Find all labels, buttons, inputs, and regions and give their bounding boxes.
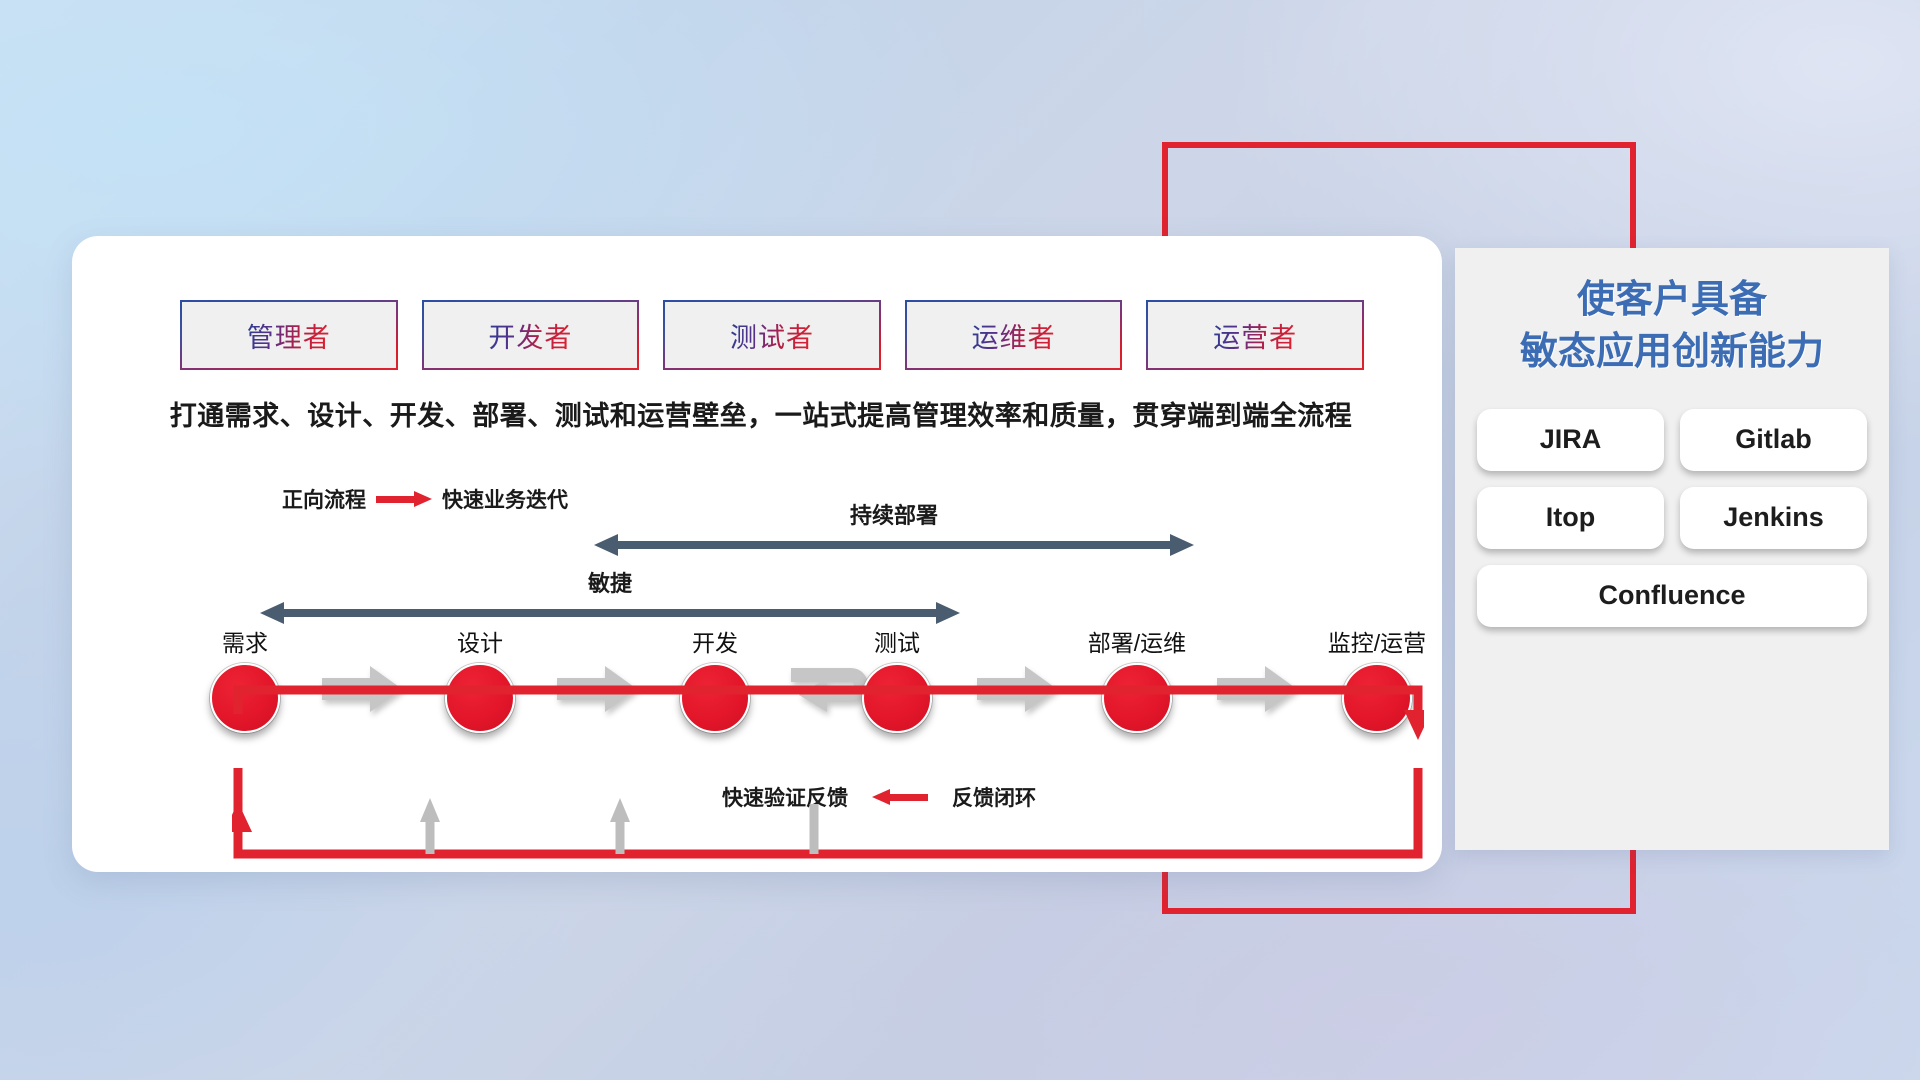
span-continuous-deploy: 持续部署	[594, 498, 1194, 556]
tool-chip-gitlab[interactable]: Gitlab	[1680, 409, 1867, 471]
arrow-shaft	[376, 496, 416, 503]
pipeline-node-test[interactable]: 测试	[832, 624, 962, 733]
legend-forward-flow: 正向流程 快速业务迭代	[282, 484, 568, 514]
legend-feedback-loop: 快速验证反馈 反馈闭环	[722, 782, 1036, 812]
chevron-arrow-right-icon	[557, 666, 637, 712]
pipeline-node-monitor-operate[interactable]: 监控/运营	[1312, 624, 1442, 733]
role-box-0[interactable]: 管理者	[182, 302, 396, 368]
role-box-3[interactable]: 运维者	[907, 302, 1121, 368]
pipeline-node-label: 开发	[650, 624, 780, 658]
legend-feedback-left-label: 快速验证反馈	[722, 782, 848, 812]
span-agile-label: 敏捷	[260, 566, 960, 598]
tool-chip-list: JIRA Gitlab Itop Jenkins Confluence	[1477, 409, 1867, 627]
role-box-1[interactable]: 开发者	[424, 302, 638, 368]
pipeline-node-label: 部署/运维	[1072, 624, 1202, 658]
outcome-title-line1: 使客户具备	[1455, 274, 1889, 326]
tool-chip-jenkins[interactable]: Jenkins	[1680, 487, 1867, 549]
role-box-2[interactable]: 测试者	[665, 302, 879, 368]
pipeline-row: 需求 设计 开发 测试	[132, 604, 1402, 754]
legend-forward-right-label: 快速业务迭代	[442, 484, 568, 514]
outcome-panel-title: 使客户具备 敏态应用创新能力	[1455, 248, 1889, 379]
role-label: 运营者	[1213, 316, 1297, 355]
pipeline-node-label: 设计	[415, 624, 545, 658]
pipeline-node-develop[interactable]: 开发	[650, 624, 780, 733]
tool-chip-confluence[interactable]: Confluence	[1477, 565, 1867, 627]
legend-feedback-right-label: 反馈闭环	[952, 782, 1036, 812]
double-arrow-slate-icon	[594, 534, 1194, 556]
tool-chip-jira[interactable]: JIRA	[1477, 409, 1664, 471]
arrow-shaft	[888, 794, 928, 801]
arrow-head	[414, 491, 432, 507]
loop-up-arrowhead	[232, 802, 252, 832]
pipeline-node-dot	[445, 663, 515, 733]
pipeline-node-dot	[1102, 663, 1172, 733]
role-label: 运维者	[972, 316, 1056, 355]
chevron-arrow-right-icon	[1217, 666, 1297, 712]
role-label: 开发者	[488, 316, 572, 355]
pipeline-node-dot	[862, 663, 932, 733]
description-text: 打通需求、设计、开发、部署、测试和运营壁垒，一站式提高管理效率和质量，贯穿端到端…	[116, 394, 1406, 433]
role-box-4[interactable]: 运营者	[1148, 302, 1362, 368]
chevron-arrow-right-icon	[322, 666, 402, 712]
tick-design-arrowhead	[420, 798, 440, 822]
arrow-left-red-icon	[872, 789, 928, 805]
arrow-shaft	[616, 541, 1172, 549]
pipeline-node-design[interactable]: 设计	[415, 624, 545, 733]
arrow-head	[872, 789, 890, 805]
outcome-panel: 使客户具备 敏态应用创新能力 JIRA Gitlab Itop Jenkins …	[1455, 248, 1889, 850]
tool-chip-itop[interactable]: Itop	[1477, 487, 1664, 549]
pipeline-node-deploy-ops[interactable]: 部署/运维	[1072, 624, 1202, 733]
pipeline-node-label: 需求	[180, 624, 310, 658]
outcome-title-line2: 敏态应用创新能力	[1455, 326, 1889, 378]
span-continuous-deploy-label: 持续部署	[594, 498, 1194, 530]
pipeline-node-label: 监控/运营	[1312, 624, 1442, 658]
tick-develop-arrowhead	[610, 798, 630, 822]
role-label: 测试者	[730, 316, 814, 355]
role-label: 管理者	[247, 316, 331, 355]
chevron-arrow-right-icon	[977, 666, 1057, 712]
legend-forward-left-label: 正向流程	[282, 484, 366, 514]
main-diagram-card: 管理者 开发者 测试者 运维者 运营者 打通需求、设计、开发、部署、测试和运营壁…	[72, 236, 1442, 872]
pipeline-node-dot	[1342, 663, 1412, 733]
arrow-head-right	[1170, 534, 1194, 556]
pipeline-node-dot	[680, 663, 750, 733]
role-box-row: 管理者 开发者 测试者 运维者 运营者	[182, 302, 1362, 368]
arrow-right-red-icon	[376, 491, 432, 507]
arrow-head-left	[594, 534, 618, 556]
pipeline-node-requirement[interactable]: 需求	[180, 624, 310, 733]
pipeline-node-label: 测试	[832, 624, 962, 658]
pipeline-node-dot	[210, 663, 280, 733]
